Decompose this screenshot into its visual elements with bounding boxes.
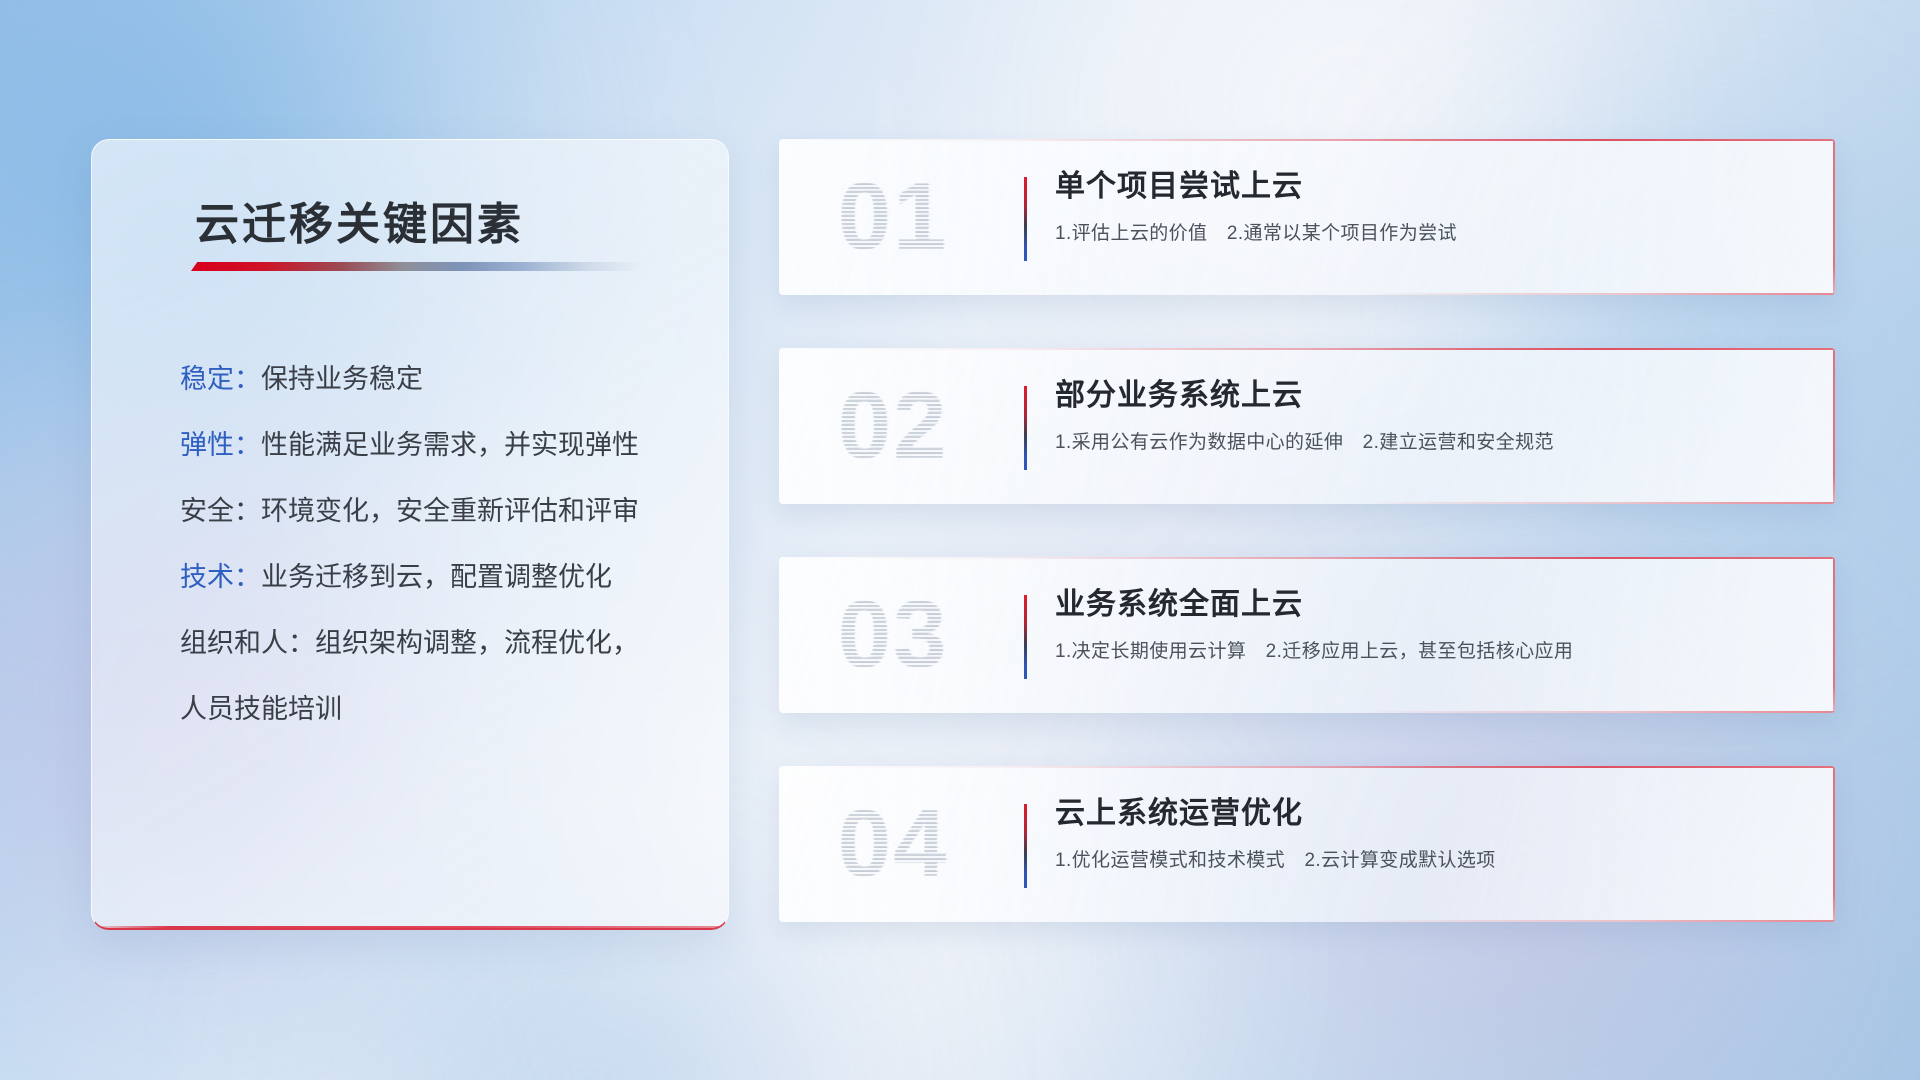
factor-line: 稳定：保持业务稳定 [180, 366, 698, 393]
factor-list: 稳定：保持业务稳定弹性：性能满足业务需求，并实现弹性安全：环境变化，安全重新评估… [180, 366, 698, 723]
key-factors-panel: 云迁移关键因素 稳定：保持业务稳定弹性：性能满足业务需求，并实现弹性安全：环境变… [91, 139, 729, 930]
factor-line: 组织和人：组织架构调整，流程优化， [180, 630, 698, 657]
card-top-edge [779, 139, 1835, 141]
card-description: 1.决定长期使用云计算 2.迁移应用上云，甚至包括核心应用 [1055, 636, 1795, 663]
stage-card[interactable]: 0202部分业务系统上云1.采用公有云作为数据中心的延伸 2.建立运营和安全规范 [779, 348, 1835, 504]
card-description: 1.优化运营模式和技术模式 2.云计算变成默认选项 [1055, 845, 1795, 872]
card-right-edge [1833, 348, 1835, 504]
card-body: 业务系统全面上云1.决定长期使用云计算 2.迁移应用上云，甚至包括核心应用 [1055, 587, 1795, 663]
slide-stage: 云迁移关键因素 稳定：保持业务稳定弹性：性能满足业务需求，并实现弹性安全：环境变… [0, 0, 1920, 1080]
panel-title: 云迁移关键因素 [195, 188, 524, 252]
stage-card[interactable]: 0303业务系统全面上云1.决定长期使用云计算 2.迁移应用上云，甚至包括核心应… [779, 557, 1835, 713]
card-bottom-edge [779, 920, 1835, 922]
accent-bar [1024, 804, 1027, 888]
factor-line: 弹性：性能满足业务需求，并实现弹性 [180, 432, 698, 459]
stage-number: 04 [813, 782, 973, 906]
accent-bar [1024, 386, 1027, 470]
card-bottom-edge [779, 711, 1835, 713]
factor-label: 技术： [180, 562, 261, 592]
stage-number: 03 [813, 573, 973, 697]
card-title: 业务系统全面上云 [1055, 587, 1795, 622]
stage-card-list: 0101单个项目尝试上云1.评估上云的价值 2.通常以某个项目作为尝试0202部… [779, 139, 1835, 922]
card-description: 1.评估上云的价值 2.通常以某个项目作为尝试 [1055, 218, 1795, 245]
factor-label: 组织和人： [180, 628, 315, 658]
card-top-edge [779, 557, 1835, 559]
card-body: 云上系统运营优化1.优化运营模式和技术模式 2.云计算变成默认选项 [1055, 796, 1795, 872]
stage-card[interactable]: 0101单个项目尝试上云1.评估上云的价值 2.通常以某个项目作为尝试 [779, 139, 1835, 295]
card-bottom-edge [779, 502, 1835, 504]
card-top-edge [779, 348, 1835, 350]
factor-line: 安全：环境变化，安全重新评估和评审 [180, 498, 698, 525]
factor-label: 安全： [180, 496, 261, 526]
factor-line: 人员技能培训 [180, 696, 698, 723]
stage-number: 02 [813, 364, 973, 488]
accent-bar [1024, 177, 1027, 261]
factor-text: 性能满足业务需求，并实现弹性 [261, 430, 639, 460]
factor-text: 保持业务稳定 [261, 364, 423, 394]
factor-text: 业务迁移到云，配置调整优化 [261, 562, 612, 592]
card-title: 部分业务系统上云 [1055, 378, 1795, 413]
factor-text: 人员技能培训 [180, 694, 342, 724]
accent-bar [1024, 595, 1027, 679]
card-right-edge [1833, 766, 1835, 922]
card-body: 单个项目尝试上云1.评估上云的价值 2.通常以某个项目作为尝试 [1055, 169, 1795, 245]
stage-card[interactable]: 0404云上系统运营优化1.优化运营模式和技术模式 2.云计算变成默认选项 [779, 766, 1835, 922]
factor-label: 稳定： [180, 364, 261, 394]
card-bottom-edge [779, 293, 1835, 295]
factor-text: 环境变化，安全重新评估和评审 [261, 496, 639, 526]
factor-label: 弹性： [180, 430, 261, 460]
card-right-edge [1833, 557, 1835, 713]
card-title: 云上系统运营优化 [1055, 796, 1795, 831]
title-underline-rule [191, 262, 643, 271]
factor-text: 组织架构调整，流程优化， [315, 628, 639, 658]
card-body: 部分业务系统上云1.采用公有云作为数据中心的延伸 2.建立运营和安全规范 [1055, 378, 1795, 454]
card-description: 1.采用公有云作为数据中心的延伸 2.建立运营和安全规范 [1055, 427, 1795, 454]
card-title: 单个项目尝试上云 [1055, 169, 1795, 204]
factor-line: 技术：业务迁移到云，配置调整优化 [180, 564, 698, 591]
stage-number: 01 [813, 155, 973, 279]
card-top-edge [779, 766, 1835, 768]
card-right-edge [1833, 139, 1835, 295]
